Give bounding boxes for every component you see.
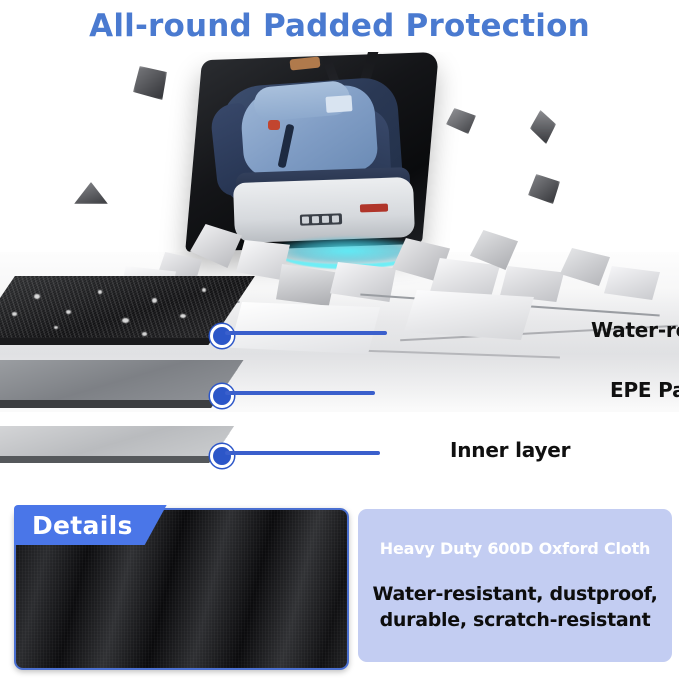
water-droplet-icon xyxy=(98,290,102,294)
spec-body: Water-resistant, dustproof, durable, scr… xyxy=(358,581,672,633)
layer-epe-padded xyxy=(0,360,243,400)
harness-buckle xyxy=(268,120,280,130)
material-layer-stack xyxy=(0,276,294,476)
flying-fragment-icon xyxy=(74,182,108,204)
layer-inner xyxy=(0,426,234,456)
spec-panel: Heavy Duty 600D Oxford Cloth Water-resis… xyxy=(358,509,672,662)
seat-label-tag xyxy=(325,95,352,113)
water-droplet-icon xyxy=(12,312,17,316)
callout-leader-line xyxy=(225,451,380,455)
water-droplet-icon xyxy=(66,310,71,314)
water-droplet-icon xyxy=(54,326,58,329)
flying-fragment-icon xyxy=(528,174,560,204)
callout-marker-icon xyxy=(210,384,234,408)
water-droplet-icon xyxy=(152,298,157,303)
spec-title: Heavy Duty 600D Oxford Cloth xyxy=(358,539,672,558)
water-droplet-icon xyxy=(34,294,40,299)
water-droplet-icon xyxy=(202,288,206,292)
infographic-page: All-round Padded Protection xyxy=(0,0,679,679)
callout-label: Water-resistant layer xyxy=(591,318,679,342)
water-droplet-icon xyxy=(122,318,129,323)
water-droplet-icon xyxy=(142,332,147,336)
callout-marker-icon xyxy=(210,444,234,468)
water-droplet-icon xyxy=(180,314,186,318)
callout-label: EPE Padded Layer xyxy=(610,378,679,402)
rubble-plate xyxy=(404,290,534,340)
callout-marker-icon xyxy=(210,324,234,348)
details-badge: Details xyxy=(14,505,167,545)
flying-fragment-icon xyxy=(530,110,556,144)
base-indicator-buttons xyxy=(300,213,342,225)
callout-leader-line xyxy=(225,331,387,335)
callout-leader-line xyxy=(225,391,375,395)
page-title: All-round Padded Protection xyxy=(0,8,679,44)
base-red-tab xyxy=(360,204,388,213)
callout-label: Inner layer xyxy=(450,438,570,462)
